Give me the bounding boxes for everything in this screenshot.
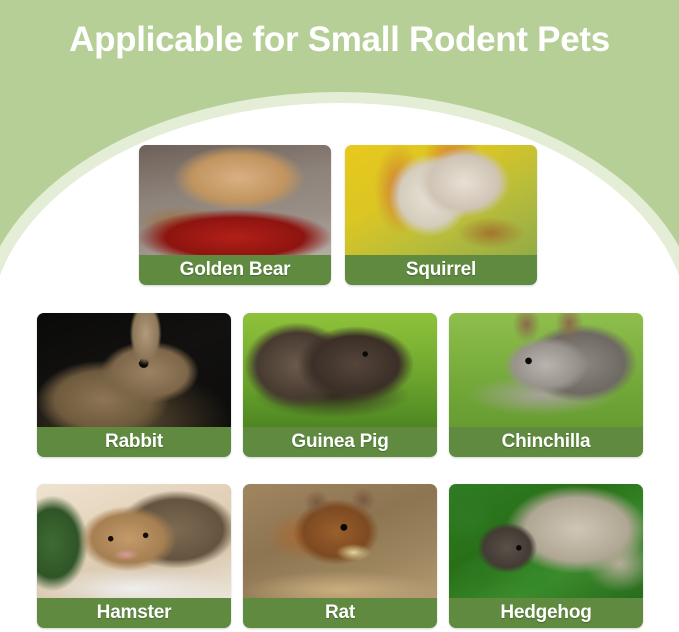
promo-banner: Applicable for Small Rodent Pets Golden … [0,0,679,632]
pet-card-hamster[interactable]: Hamster [37,484,231,628]
pet-photo-guinea-pig [243,313,437,427]
pet-card-guinea-pig[interactable]: Guinea Pig [243,313,437,457]
pet-photo-chinchilla [449,313,643,427]
animal-illustration-hedgehog [449,484,643,598]
animal-illustration-golden-bear [139,145,331,255]
pet-photo-squirrel [345,145,537,255]
pet-label-squirrel: Squirrel [345,255,537,285]
pet-photo-rat [243,484,437,598]
pet-card-rat[interactable]: Rat [243,484,437,628]
animal-illustration-chinchilla [449,313,643,427]
pet-card-squirrel[interactable]: Squirrel [345,145,537,285]
pet-photo-rabbit [37,313,231,427]
pet-photo-hedgehog [449,484,643,598]
pet-label-rat: Rat [243,598,437,628]
pet-photo-golden-bear [139,145,331,255]
pet-label-chinchilla: Chinchilla [449,427,643,457]
pet-card-golden-bear[interactable]: Golden Bear [139,145,331,285]
animal-illustration-squirrel [345,145,537,255]
pet-label-hedgehog: Hedgehog [449,598,643,628]
pet-label-guinea-pig: Guinea Pig [243,427,437,457]
pet-photo-hamster [37,484,231,598]
pet-card-rabbit[interactable]: Rabbit [37,313,231,457]
pet-label-golden-bear: Golden Bear [139,255,331,285]
pet-label-rabbit: Rabbit [37,427,231,457]
pet-card-chinchilla[interactable]: Chinchilla [449,313,643,457]
animal-illustration-hamster [37,484,231,598]
pet-card-hedgehog[interactable]: Hedgehog [449,484,643,628]
pet-label-hamster: Hamster [37,598,231,628]
animal-illustration-guinea-pig [243,313,437,427]
page-title: Applicable for Small Rodent Pets [0,20,679,60]
animal-illustration-rat [243,484,437,598]
animal-illustration-rabbit [37,313,231,427]
